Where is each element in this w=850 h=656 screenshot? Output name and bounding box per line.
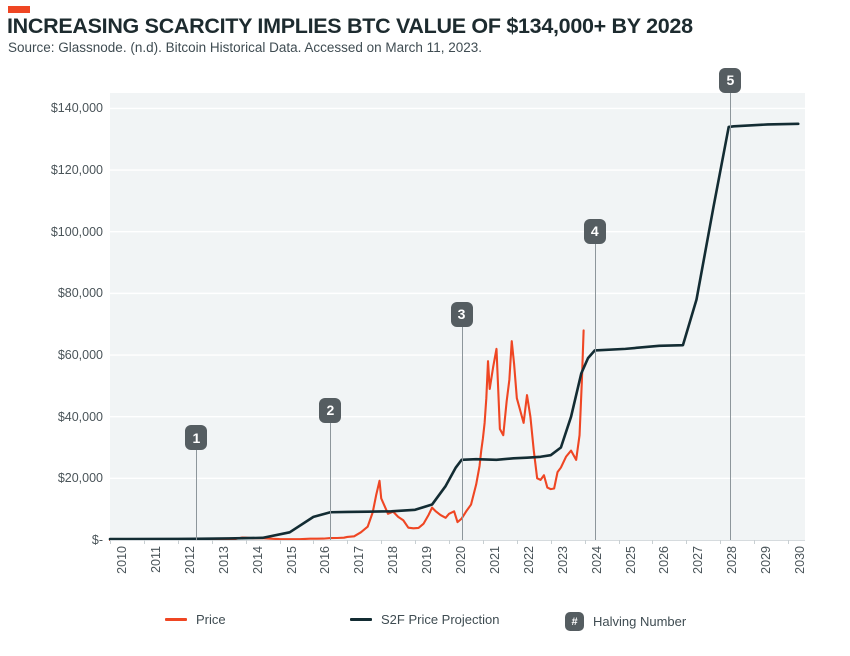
x-axis-tick-label: 2025 xyxy=(624,546,638,574)
legend-line-swatch-icon xyxy=(165,618,187,621)
x-axis-tick xyxy=(551,540,552,544)
x-axis-tick xyxy=(347,540,348,544)
x-axis-tick-label: 2018 xyxy=(386,546,400,574)
x-axis-tick-label: 2013 xyxy=(217,546,231,574)
x-axis-tick-label: 2020 xyxy=(454,546,468,574)
x-axis-tick xyxy=(652,540,653,544)
chart-root: INCREASING SCARCITY IMPLIES BTC VALUE OF… xyxy=(0,0,850,656)
legend-item-price[interactable]: Price xyxy=(165,612,226,627)
halving-2-badge[interactable]: 2 xyxy=(319,398,341,423)
chart-legend: PriceS2F Price Projection#Halving Number xyxy=(110,608,810,638)
x-axis-tick-label: 2016 xyxy=(318,546,332,574)
x-axis-tick xyxy=(619,540,620,544)
x-axis-tick xyxy=(313,540,314,544)
x-axis-tick xyxy=(110,540,111,544)
legend-item-label: Price xyxy=(196,612,226,627)
x-axis-tick-label: 2026 xyxy=(657,546,671,574)
x-axis-tick xyxy=(246,540,247,544)
halving-4-badge[interactable]: 4 xyxy=(584,219,606,244)
x-axis-tick xyxy=(483,540,484,544)
legend-line-swatch-icon xyxy=(350,618,372,621)
legend-hash-badge-icon: # xyxy=(565,612,584,631)
x-axis-tick xyxy=(280,540,281,544)
x-axis-tick-label: 2023 xyxy=(556,546,570,574)
x-axis-tick-label: 2028 xyxy=(725,546,739,574)
legend-item-halving-number[interactable]: #Halving Number xyxy=(565,612,686,631)
x-axis-tick xyxy=(754,540,755,544)
x-axis-tick xyxy=(381,540,382,544)
halving-3-badge[interactable]: 3 xyxy=(451,302,473,327)
x-axis-tick xyxy=(212,540,213,544)
x-axis-tick xyxy=(144,540,145,544)
x-axis-tick xyxy=(415,540,416,544)
halving-5-line xyxy=(730,81,731,540)
x-axis-tick xyxy=(449,540,450,544)
x-axis-tick-label: 2029 xyxy=(759,546,773,574)
x-axis-tick xyxy=(178,540,179,544)
x-axis-tick-label: 2022 xyxy=(522,546,536,574)
x-axis-tick-label: 2024 xyxy=(590,546,604,574)
halving-5-badge[interactable]: 5 xyxy=(719,68,741,93)
x-axis-tick-label: 2015 xyxy=(285,546,299,574)
halving-4-line xyxy=(595,232,596,540)
halving-1-line xyxy=(196,438,197,540)
halving-1-badge[interactable]: 1 xyxy=(185,425,207,450)
x-axis: 2010201120122013201420152016201720182019… xyxy=(0,0,850,656)
x-axis-tick-label: 2010 xyxy=(115,546,129,574)
halving-3-line xyxy=(462,315,463,540)
halving-2-line xyxy=(330,411,331,540)
x-axis-tick-label: 2021 xyxy=(488,546,502,574)
x-axis-tick xyxy=(585,540,586,544)
legend-item-label: S2F Price Projection xyxy=(381,612,500,627)
x-axis-tick xyxy=(686,540,687,544)
x-axis-tick xyxy=(720,540,721,544)
x-axis-tick-label: 2011 xyxy=(149,546,163,573)
legend-item-label: Halving Number xyxy=(593,614,686,629)
x-axis-tick-label: 2027 xyxy=(691,546,705,574)
x-axis-tick xyxy=(517,540,518,544)
x-axis-tick-label: 2017 xyxy=(352,546,366,574)
x-axis-tick-label: 2019 xyxy=(420,546,434,574)
x-axis-tick-label: 2012 xyxy=(183,546,197,574)
x-axis-tick-label: 2014 xyxy=(251,546,265,574)
x-axis-tick-label: 2030 xyxy=(793,546,807,574)
x-axis-tick xyxy=(788,540,789,544)
legend-item-s2f-price-projection[interactable]: S2F Price Projection xyxy=(350,612,500,627)
